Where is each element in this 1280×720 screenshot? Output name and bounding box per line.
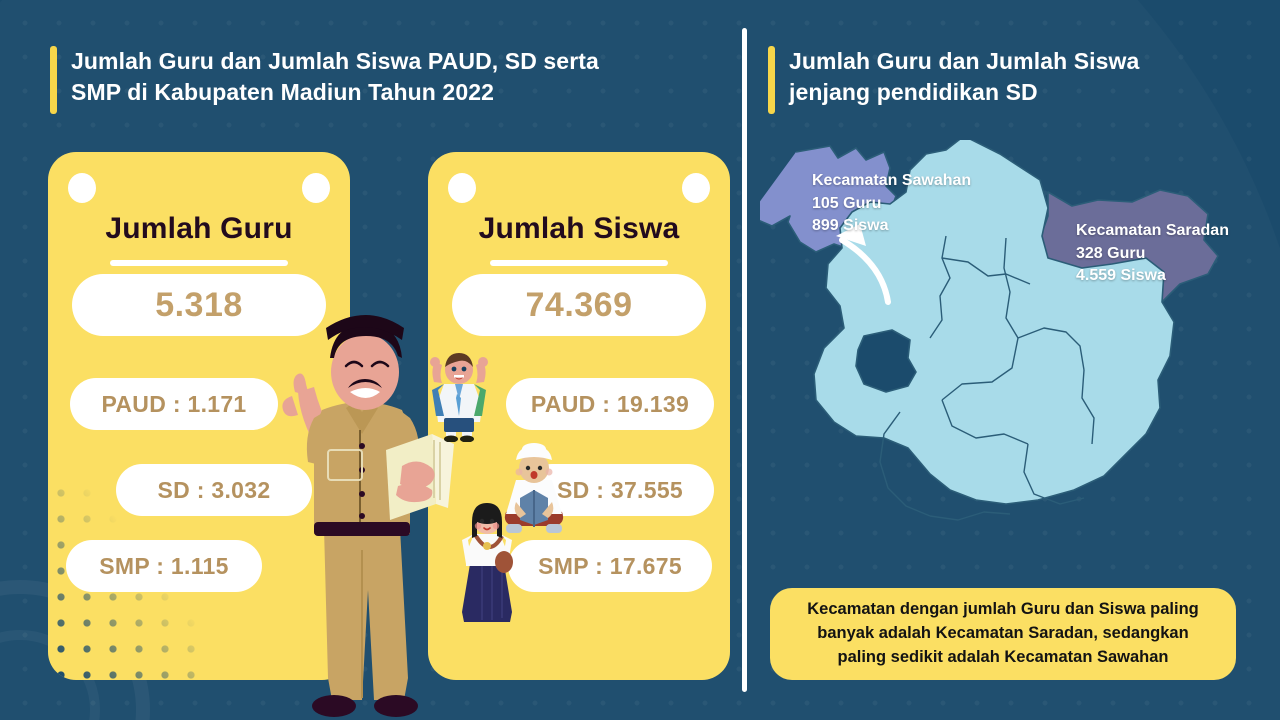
breakdown-pill-siswa-paud: PAUD : 19.139	[506, 378, 714, 430]
right-panel-heading: Jumlah Guru dan Jumlah Siswa jenjang pen…	[768, 46, 1139, 114]
map-label-sawahan: Kecamatan Sawahan 105 Guru 899 Siswa	[812, 170, 971, 238]
map-label-saradan: Kecamatan Saradan 328 Guru 4.559 Siswa	[1076, 220, 1229, 288]
map-caption-box: Kecamatan dengan jumlah Guru dan Siswa p…	[770, 588, 1236, 680]
card-hole-left	[68, 173, 96, 203]
breakdown-pill-guru-smp: SMP : 1.115	[66, 540, 262, 592]
breakdown-pill-guru-paud: PAUD : 1.171	[70, 378, 278, 430]
heading-accent-bar	[50, 46, 57, 114]
left-panel-heading: Jumlah Guru dan Jumlah Siswa PAUD, SD se…	[50, 46, 599, 114]
left-panel: Jumlah Guru dan Jumlah Siswa PAUD, SD se…	[0, 0, 745, 720]
student-smp-illustration	[452, 500, 522, 625]
card-hole-right	[302, 173, 330, 203]
left-heading-text: Jumlah Guru dan Jumlah Siswa PAUD, SD se…	[71, 46, 599, 107]
map-region-city	[856, 330, 916, 392]
card-title-guru: Jumlah Guru	[48, 212, 350, 246]
student-paud-illustration	[424, 352, 494, 442]
card-title-rule	[110, 260, 288, 266]
card-title-siswa: Jumlah Siswa	[428, 212, 730, 246]
total-value-siswa: 74.369	[452, 274, 706, 336]
heading-accent-bar	[768, 46, 775, 114]
card-hole-right	[682, 173, 710, 203]
card-hole-left	[448, 173, 476, 203]
card-title-rule	[490, 260, 668, 266]
right-heading-text: Jumlah Guru dan Jumlah Siswa jenjang pen…	[789, 46, 1139, 107]
breakdown-pill-siswa-smp: SMP : 17.675	[508, 540, 712, 592]
